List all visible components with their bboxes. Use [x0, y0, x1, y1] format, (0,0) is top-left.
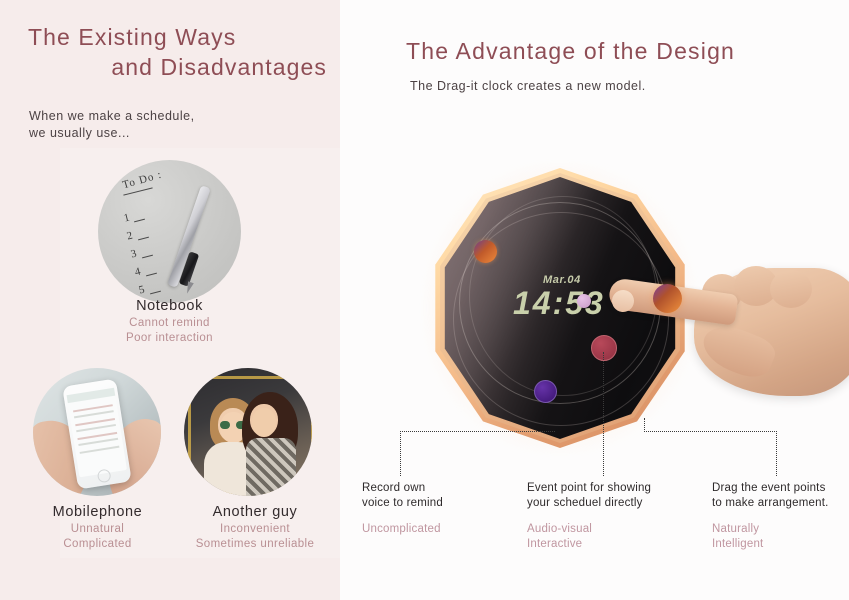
notebook-caption-sub-2: Poor interaction — [62, 331, 277, 346]
mobilephone-caption-sub-1: Unnatural — [20, 522, 175, 537]
leader-line-2-vertical — [603, 352, 604, 476]
left-title-line-2: and Disadvantages — [28, 52, 333, 82]
another-guy-caption: Another guy Inconvenient Sometimes unrel… — [170, 503, 340, 551]
another-guy-caption-name: Another guy — [170, 503, 340, 522]
left-lead-text: When we make a schedule, we usually use.… — [29, 108, 309, 142]
event-dot-small-pink[interactable] — [577, 294, 591, 308]
feature-3-main-line-2: to make arrangement. — [712, 496, 849, 511]
leader-line-1-vertical — [400, 431, 401, 476]
feature-2-main-line-2: your scheduel directly — [527, 496, 712, 511]
phone-screen — [67, 388, 127, 477]
notebook-photo: To Do : 1 2 3 4 5 — [98, 160, 241, 303]
left-title-line-1: The Existing Ways — [28, 22, 333, 52]
left-lead-line-1: When we make a schedule, — [29, 108, 309, 125]
notebook-caption-sub-1: Cannot remind — [62, 316, 277, 331]
feature-caption-2: Event point for showing your scheduel di… — [527, 481, 712, 552]
right-page-subtitle: The Drag-it clock creates a new model. — [410, 79, 646, 93]
feature-caption-3: Drag the event points to make arrangemen… — [712, 481, 849, 552]
smartphone-photo — [33, 368, 161, 496]
phone-list-row — [78, 438, 118, 446]
leader-line-1-horizontal — [400, 431, 555, 432]
clock-time-display: Mar.04 14:53 — [513, 274, 605, 319]
phone-app-bar — [67, 388, 116, 403]
phone-list-row — [74, 410, 114, 418]
feature-2-tag-line-1: Audio-visual — [527, 522, 712, 537]
notebook-caption-name: Notebook — [62, 297, 277, 316]
feature-3-main-line-1: Drag the event points — [712, 481, 849, 496]
left-lead-line-2: we usually use... — [29, 125, 309, 142]
hand-knuckle — [770, 270, 812, 308]
event-dot-purple[interactable] — [534, 380, 557, 403]
feature-1-main-line-2: voice to remind — [362, 496, 512, 511]
feature-2-main-line-1: Event point for showing — [527, 481, 712, 496]
leader-line-3-vertical-right — [776, 431, 777, 476]
woman-right-scarf — [246, 438, 296, 496]
feature-2-tag-line-2: Interactive — [527, 537, 712, 552]
mobilephone-caption-name: Mobilephone — [20, 503, 175, 522]
right-page-title: The Advantage of the Design — [406, 38, 735, 65]
leader-line-3-horizontal — [644, 431, 777, 432]
pointing-hand — [610, 268, 849, 418]
another-guy-caption-sub-2: Sometimes unreliable — [170, 537, 340, 552]
feature-caption-1: Record own voice to remind Uncomplicated — [362, 481, 512, 537]
woman-right-face — [252, 408, 276, 437]
phone-list-row — [76, 424, 116, 432]
feature-1-main-line-1: Record own — [362, 481, 512, 496]
another-guy-caption-sub-1: Inconvenient — [170, 522, 340, 537]
mobilephone-caption-sub-2: Complicated — [20, 537, 175, 552]
event-dot-touched[interactable] — [653, 284, 682, 313]
feature-1-tag-line-1: Uncomplicated — [362, 522, 512, 537]
event-dot-orange[interactable] — [474, 240, 497, 263]
two-women-photo — [184, 368, 312, 496]
left-page-title: The Existing Ways and Disadvantages — [28, 22, 333, 82]
clock-time-label: 14:53 — [513, 287, 605, 319]
phone-list-row — [80, 446, 120, 454]
mobilephone-caption: Mobilephone Unnatural Complicated — [20, 503, 175, 551]
feature-3-tag-line-2: Intelligent — [712, 537, 849, 552]
presentation-slide: The Existing Ways and Disadvantages When… — [0, 0, 849, 600]
notebook-caption: Notebook Cannot remind Poor interaction — [62, 297, 277, 345]
feature-3-tag-line-1: Naturally — [712, 522, 849, 537]
leader-line-3-vertical-left — [644, 418, 645, 432]
